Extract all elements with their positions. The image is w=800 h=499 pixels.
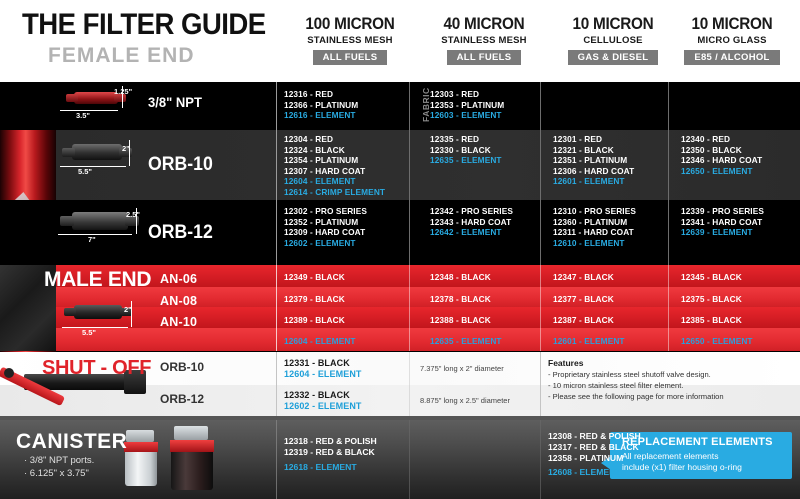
part-number-element: 12604 - ELEMENT <box>284 176 385 187</box>
part-number-element: 12650 - ELEMENT <box>681 336 753 347</box>
canister-photo-black <box>168 426 220 492</box>
section-title-female-end: FEMALE END <box>48 44 195 68</box>
canister-bullet: · 6.125" x 3.75" <box>24 468 89 479</box>
part-cell-10micron-cellulose-orb10: 12301 - RED 12321 - BLACK 12351 - PLATIN… <box>553 134 634 187</box>
part-number: 12346 - HARD COAT <box>681 155 762 166</box>
part-number: 12335 - RED <box>430 134 502 145</box>
part-number-element: 12616 - ELEMENT <box>284 110 358 121</box>
row-size-label-orb10: ORB-10 <box>148 154 213 176</box>
part-number: 12347 - BLACK <box>553 272 614 283</box>
dimension-length: 5.5" <box>78 167 92 176</box>
part-number-element: 12650 - ELEMENT <box>681 166 762 177</box>
part-number-element: 12604 - ELEMENT <box>284 369 362 379</box>
column-divider <box>409 420 410 499</box>
part-number: 12306 - HARD COAT <box>553 166 634 177</box>
column-material-label: STAINLESS MESH <box>280 35 420 46</box>
part-number: 12316 - RED <box>284 89 358 100</box>
part-number: 12385 - BLACK <box>681 315 742 326</box>
features-heading: Features <box>548 358 583 368</box>
column-micron-label: 10 MICRON <box>672 14 793 34</box>
row-size-label-an10: AN-10 <box>160 315 197 329</box>
part-cell-100micron-orb12: 12302 - PRO SERIES 12352 - PLATINUM 1230… <box>284 206 367 248</box>
part-number: 12341 - HARD COAT <box>681 217 764 228</box>
part-number: 12375 - BLACK <box>681 294 742 305</box>
column-divider <box>540 352 541 416</box>
part-number: 12318 - RED & POLISH <box>284 436 377 447</box>
row-size-label-npt: 3/8" NPT <box>148 94 202 110</box>
dimension-text: 7.375" long x 2" diameter <box>420 364 504 373</box>
column-divider <box>540 420 541 499</box>
column-divider <box>276 82 277 265</box>
column-header-40-micron: 40 MICRON STAINLESS MESH ALL FUELS <box>414 14 554 65</box>
part-number-element: 12610 - ELEMENT <box>553 238 636 249</box>
column-divider <box>276 352 277 416</box>
column-micron-label: 10 MICRON <box>547 14 678 34</box>
part-cell-10micron-microglass-orb12: 12339 - PRO SERIES 12341 - HARD COAT 126… <box>681 206 764 238</box>
part-number: 12340 - RED <box>681 134 762 145</box>
dimension-diameter: 2" <box>122 144 130 153</box>
part-number-element: 12639 - ELEMENT <box>681 227 764 238</box>
part-number: 12307 - HARD COAT <box>284 166 385 177</box>
column-divider <box>540 82 541 265</box>
replacement-heading: REPLACEMENT ELEMENTS <box>622 436 773 448</box>
column-header-100-micron: 100 MICRON STAINLESS MESH ALL FUELS <box>280 14 420 65</box>
row-size-label-shutoff-orb12: ORB-12 <box>160 392 204 406</box>
canister-photo-polish <box>122 430 164 488</box>
column-divider <box>540 265 541 351</box>
part-number: 12353 - PLATINUM <box>430 100 504 111</box>
part-number-element: 12635 - ELEMENT <box>430 155 502 166</box>
part-number: 12348 - BLACK <box>430 272 491 283</box>
part-number-element: 12618 - ELEMENT <box>284 462 377 473</box>
dimension-length: 3.5" <box>76 111 90 120</box>
dimension-diameter: 2" <box>124 305 132 314</box>
section-title-canister: CANISTER <box>16 430 127 454</box>
part-number: 12377 - BLACK <box>553 294 614 305</box>
column-fuel-badge: ALL FUELS <box>447 50 522 65</box>
part-number: 12303 - RED <box>430 89 504 100</box>
part-cell-100micron-npt: 12316 - RED 12366 - PLATINUM 12616 - ELE… <box>284 89 358 121</box>
part-number: 12378 - BLACK <box>430 294 491 305</box>
column-divider <box>276 420 277 499</box>
part-number: 12342 - PRO SERIES <box>430 206 513 217</box>
page-header: THE FILTER GUIDE FEMALE END 100 MICRON S… <box>0 0 800 82</box>
part-number: 12358 - PLATINUM <box>548 453 641 464</box>
part-number: 12349 - BLACK <box>284 272 345 283</box>
part-number-element: 12614 - CRIMP ELEMENT <box>284 187 385 198</box>
part-number: 12332 - BLACK <box>284 390 350 400</box>
part-number: 12351 - PLATINUM <box>553 155 634 166</box>
column-fuel-badge: E85 / ALCOHOL <box>684 50 779 65</box>
dimension-diameter: 2.5" <box>126 210 140 219</box>
row-size-label-an06: AN-06 <box>160 272 197 286</box>
dimension-diameter: 1.25" <box>114 87 132 96</box>
column-micron-label: 100 MICRON <box>287 14 413 34</box>
part-number: 12311 - HARD COAT <box>553 227 636 238</box>
row-size-label-shutoff-orb10: ORB-10 <box>160 360 204 374</box>
part-number: 12304 - RED <box>284 134 385 145</box>
part-number-element: 12602 - ELEMENT <box>284 401 362 411</box>
part-cell-canister-10micron: 12308 - RED & POLISH 12317 - RED & BLACK… <box>548 431 641 478</box>
row-size-label-orb12: ORB-12 <box>148 222 213 244</box>
part-number: 12354 - PLATINUM <box>284 155 385 166</box>
part-number: 12301 - RED <box>553 134 634 145</box>
section-title-male-end: MALE END <box>44 268 151 292</box>
part-cell-40micron-npt: 12303 - RED 12353 - PLATINUM 12603 - ELE… <box>430 89 504 121</box>
dimension-length: 5.5" <box>82 328 96 337</box>
column-divider <box>668 265 669 351</box>
part-number: 12379 - BLACK <box>284 294 345 305</box>
part-number-element: 12604 - ELEMENT <box>284 336 356 347</box>
part-cell-100micron-orb10: 12304 - RED 12324 - BLACK 12354 - PLATIN… <box>284 134 385 198</box>
page-title: THE FILTER GUIDE <box>22 8 266 42</box>
feature-item: - 10 micron stainless steel filter eleme… <box>548 381 683 390</box>
part-number: 12389 - BLACK <box>284 315 345 326</box>
part-number-element: 12602 - ELEMENT <box>284 238 367 249</box>
part-number: 12352 - PLATINUM <box>284 217 367 228</box>
column-material-label: MICRO GLASS <box>665 35 799 46</box>
part-number: 12319 - RED & BLACK <box>284 447 377 458</box>
column-divider <box>668 82 669 265</box>
filter-guide-page: THE FILTER GUIDE FEMALE END 100 MICRON S… <box>0 0 800 499</box>
part-number-element: 12601 - ELEMENT <box>553 176 634 187</box>
row-size-label-an08: AN-08 <box>160 294 197 308</box>
feature-item: - Proprietary stainless steel shutoff va… <box>548 370 711 379</box>
part-number-element: 12635 - ELEMENT <box>430 336 502 347</box>
part-number: 12350 - BLACK <box>681 145 762 156</box>
dimension-text: 8.875" long x 2.5" diameter <box>420 396 510 405</box>
part-cell-40micron-orb10: 12335 - RED 12330 - BLACK 12635 - ELEMEN… <box>430 134 502 166</box>
part-number: 12345 - BLACK <box>681 272 742 283</box>
part-number: 12330 - BLACK <box>430 145 502 156</box>
part-number: 12366 - PLATINUM <box>284 100 358 111</box>
section-title-shut-off: SHUT - OFF <box>42 357 151 380</box>
part-cell-40micron-orb12: 12342 - PRO SERIES 12343 - HARD COAT 126… <box>430 206 513 238</box>
part-number-element: 12603 - ELEMENT <box>430 110 504 121</box>
column-divider <box>276 265 277 351</box>
part-number-element: 12642 - ELEMENT <box>430 227 513 238</box>
part-cell-canister-100micron: 12318 - RED & POLISH 12319 - RED & BLACK… <box>284 436 377 473</box>
canister-bullet: · 3/8" NPT ports. <box>24 455 94 466</box>
part-number: 12310 - PRO SERIES <box>553 206 636 217</box>
column-divider <box>409 82 410 265</box>
column-material-label: STAINLESS MESH <box>414 35 554 46</box>
part-number: 12343 - HARD COAT <box>430 217 513 228</box>
part-cell-10micron-microglass-orb10: 12340 - RED 12350 - BLACK 12346 - HARD C… <box>681 134 762 176</box>
column-divider <box>409 352 410 416</box>
part-cell-10micron-cellulose-orb12: 12310 - PRO SERIES 12360 - PLATINUM 1231… <box>553 206 636 248</box>
table-row <box>0 328 800 351</box>
part-number-element: 12601 - ELEMENT <box>553 336 625 347</box>
part-number: 12360 - PLATINUM <box>553 217 636 228</box>
part-number: 12317 - RED & BLACK <box>548 442 641 453</box>
part-number: 12339 - PRO SERIES <box>681 206 764 217</box>
feature-item: - Please see the following page for more… <box>548 392 724 401</box>
column-header-10-micron-micro-glass: 10 MICRON MICRO GLASS E85 / ALCOHOL <box>665 14 799 65</box>
column-micron-label: 40 MICRON <box>421 14 547 34</box>
part-number: 12302 - PRO SERIES <box>284 206 367 217</box>
part-number: 12387 - BLACK <box>553 315 614 326</box>
part-number: 12324 - BLACK <box>284 145 385 156</box>
part-number: 12331 - BLACK <box>284 358 350 368</box>
column-fuel-badge: ALL FUELS <box>313 50 388 65</box>
column-divider <box>409 265 410 351</box>
dimension-length: 7" <box>88 235 96 244</box>
part-number: 12321 - BLACK <box>553 145 634 156</box>
part-number: 12388 - BLACK <box>430 315 491 326</box>
part-number-element: 12608 - ELEMENT <box>548 467 641 478</box>
column-fuel-badge: GAS & DIESEL <box>568 50 659 65</box>
part-number: 12309 - HARD COAT <box>284 227 367 238</box>
part-number: 12308 - RED & POLISH <box>548 431 641 442</box>
